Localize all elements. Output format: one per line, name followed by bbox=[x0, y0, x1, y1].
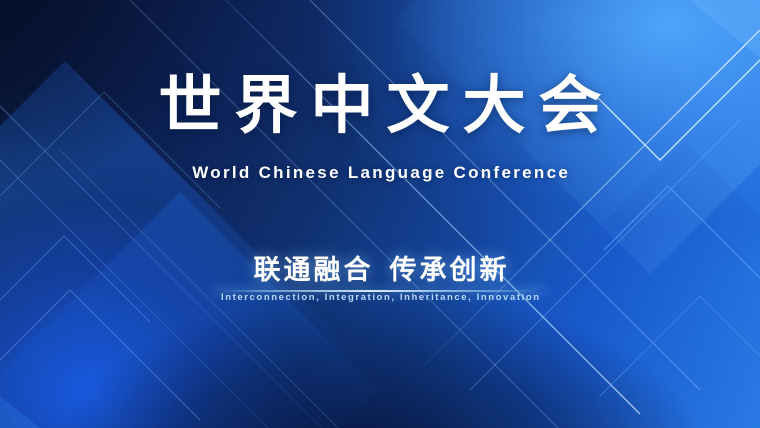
slogan-english: Interconnection, Integration, Inheritanc… bbox=[0, 293, 760, 303]
page-subtitle: World Chinese Language Conference bbox=[0, 164, 760, 181]
slogan-chinese-part-1: 联通融合 bbox=[254, 255, 374, 286]
slogan-chinese-part-2: 传承创新 bbox=[390, 255, 510, 286]
poster-content: 世界中文大会 World Chinese Language Conference… bbox=[0, 0, 760, 428]
slogan-chinese: 联通融合传承创新 bbox=[0, 255, 760, 286]
page-title: 世界中文大会 bbox=[0, 74, 760, 137]
conference-poster: 世界中文大会 World Chinese Language Conference… bbox=[0, 0, 760, 428]
